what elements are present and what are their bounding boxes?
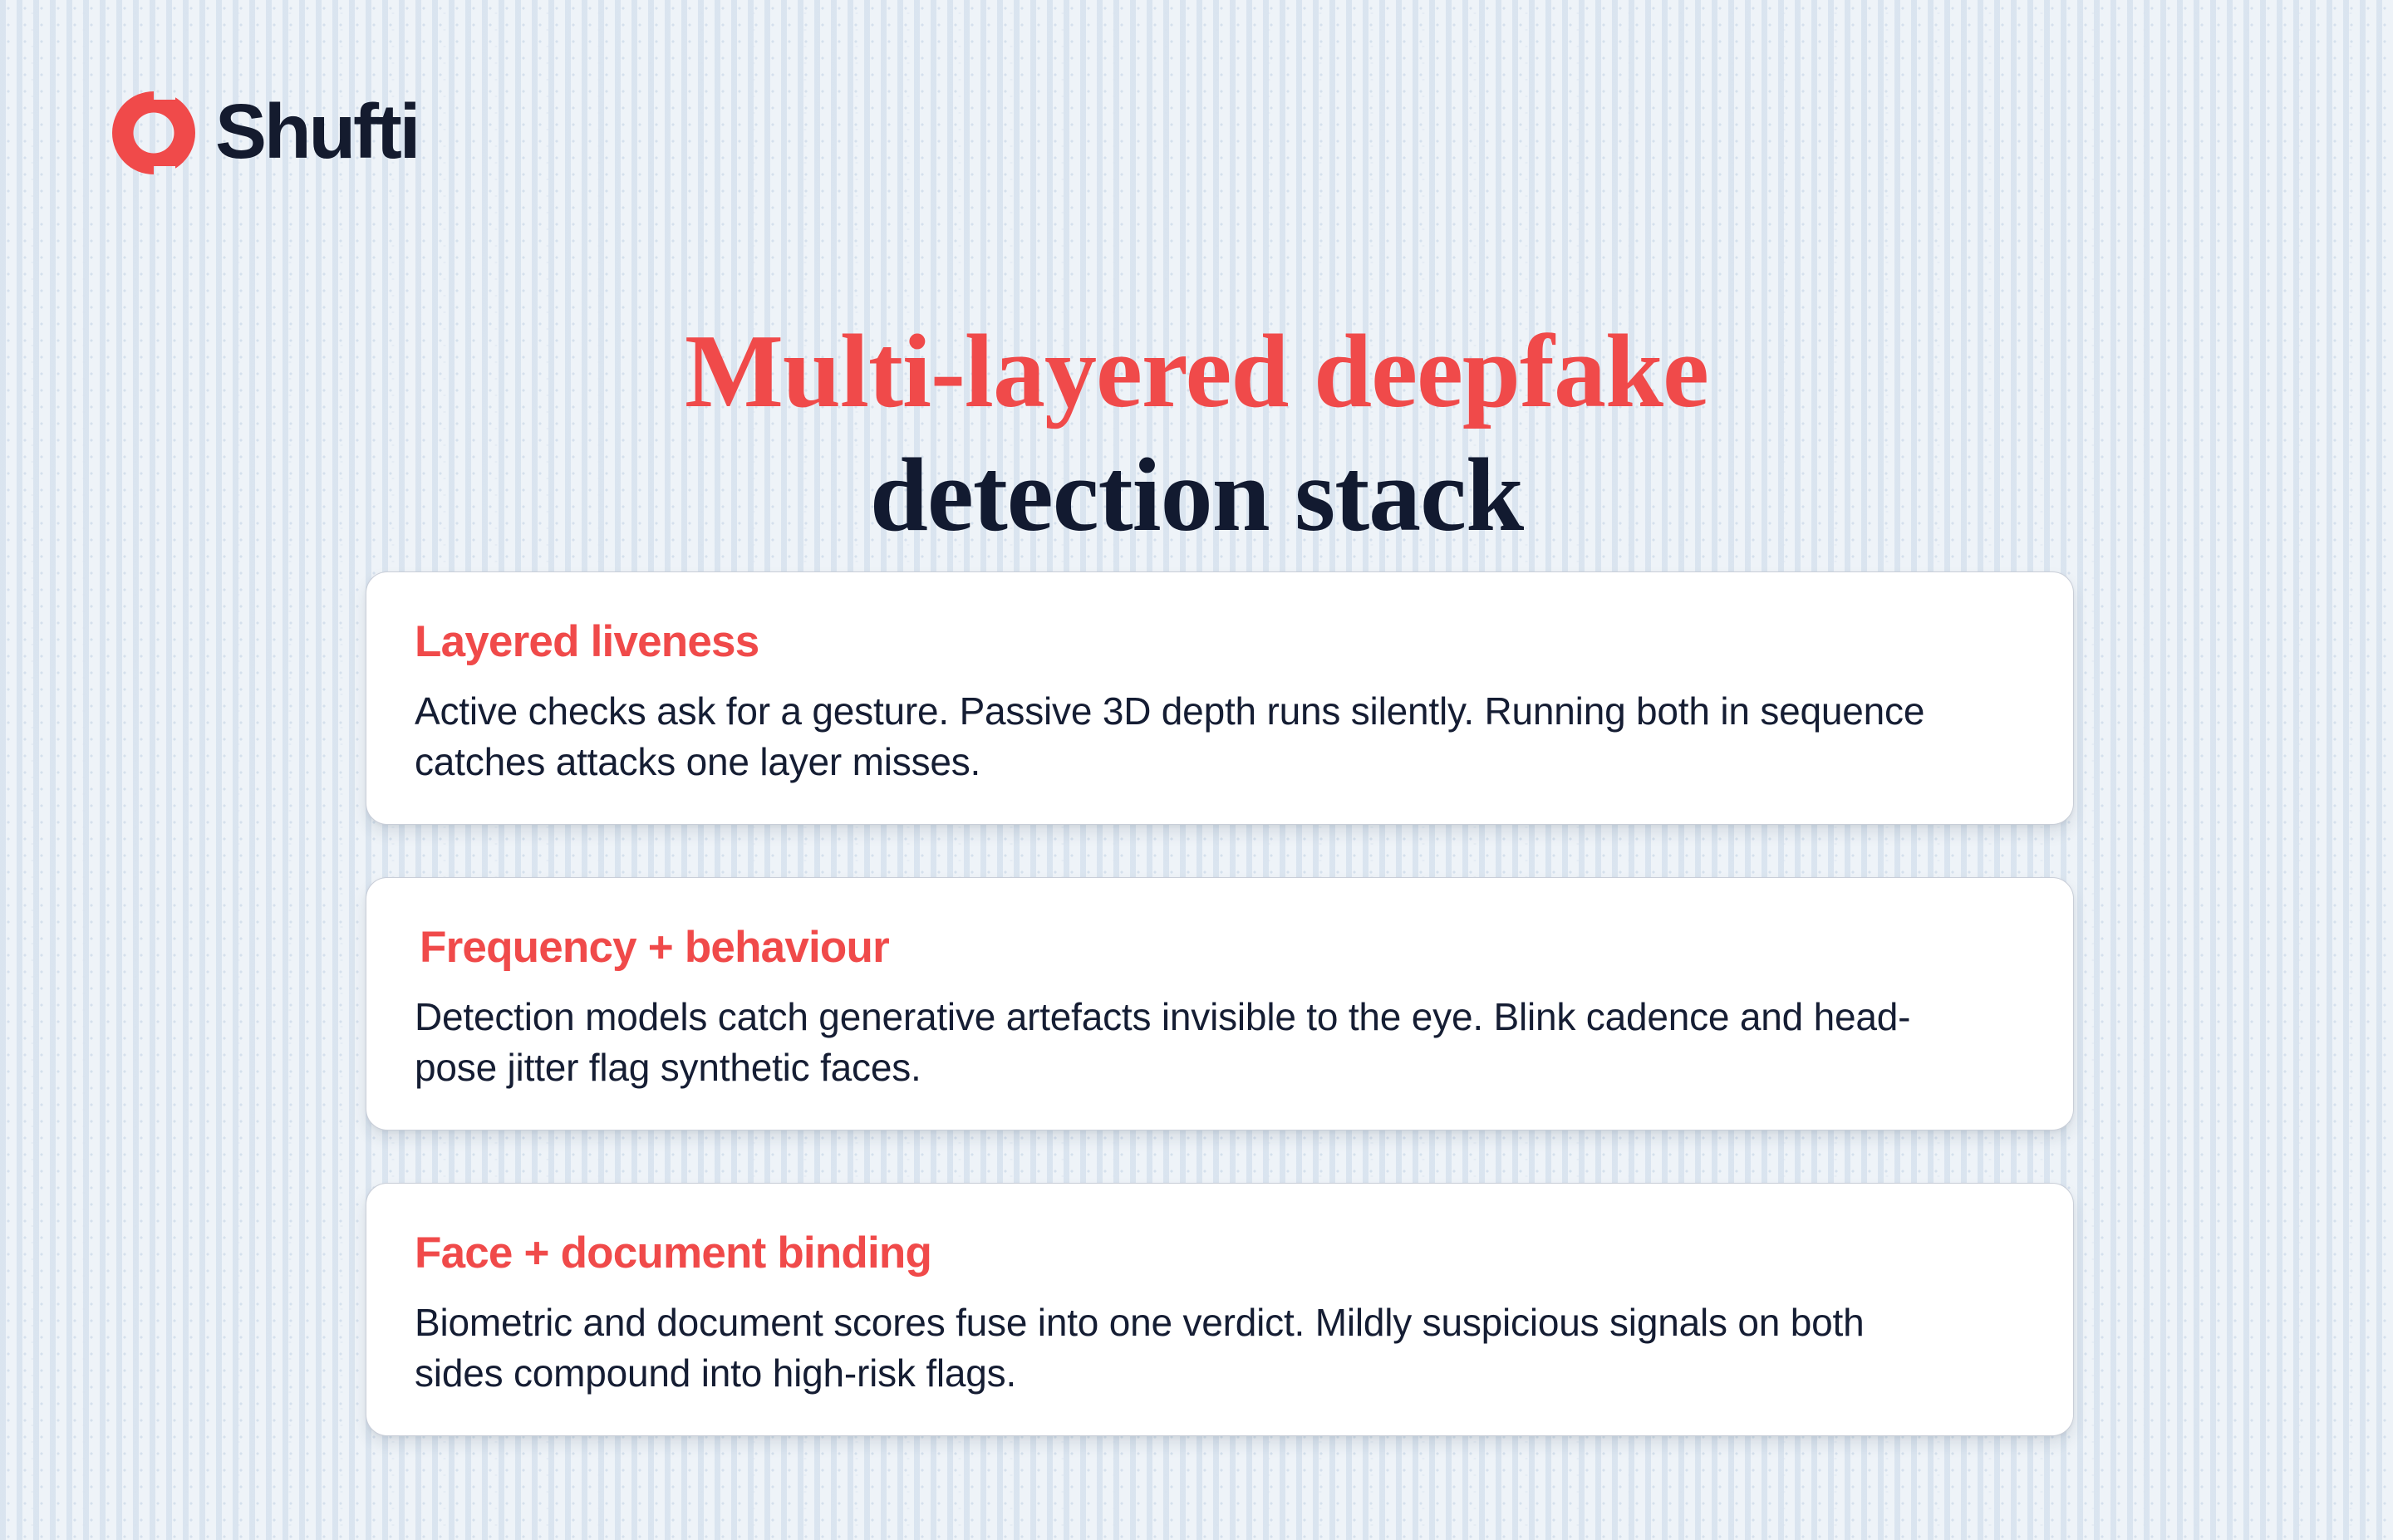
card-layered-liveness: Layered liveness Active checks ask for a… xyxy=(366,571,2074,825)
infographic-canvas: Shufti Multi-layered deepfake detection … xyxy=(0,0,2393,1540)
card-body: Biometric and document scores fuse into … xyxy=(415,1297,1935,1398)
card-frequency-behaviour: Frequency + behaviour Detection models c… xyxy=(366,877,2074,1130)
card-title: Face + document binding xyxy=(415,1229,2025,1279)
card-body: Active checks ask for a gesture. Passive… xyxy=(415,686,1935,787)
brand-logo: Shufti xyxy=(111,90,418,176)
card-body: Detection models catch generative artefa… xyxy=(415,992,1935,1092)
page-title: Multi-layered deepfake detection stack xyxy=(0,311,2393,557)
brand-wordmark: Shufti xyxy=(215,93,418,170)
card-title: Frequency + behaviour xyxy=(415,923,2025,974)
card-list: Layered liveness Active checks ask for a… xyxy=(366,571,2074,1436)
card-face-document-binding: Face + document binding Biometric and do… xyxy=(366,1183,2074,1436)
shufti-ring-icon xyxy=(111,90,197,176)
page-title-line-1: Multi-layered deepfake xyxy=(0,311,2393,434)
page-title-line-2: detection stack xyxy=(0,434,2393,558)
card-title: Layered liveness xyxy=(415,617,2025,668)
